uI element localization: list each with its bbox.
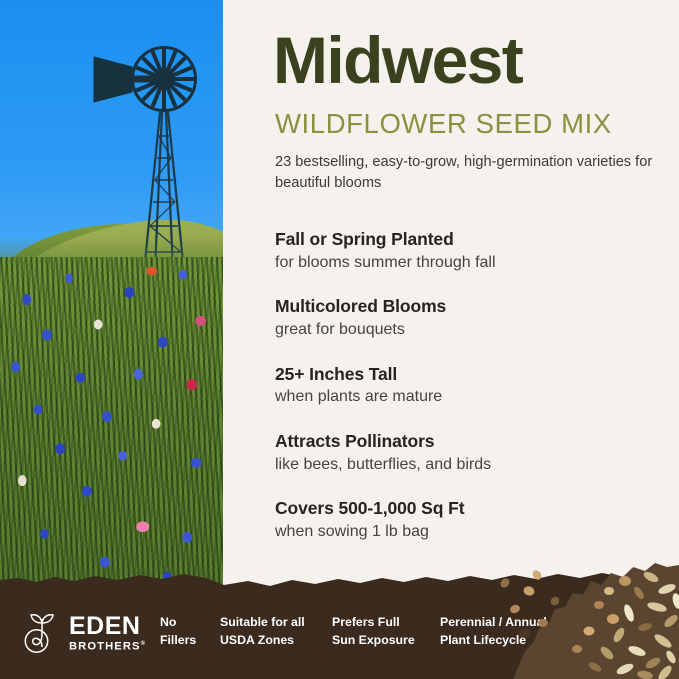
brand-logo[interactable]: EDEN BROTHERS® bbox=[22, 611, 146, 655]
footer-column-line1: Suitable for all bbox=[220, 614, 305, 632]
feature-title: 25+ Inches Tall bbox=[275, 363, 675, 386]
feature-item: Covers 500-1,000 Sq Ft when sowing 1 lb … bbox=[275, 497, 675, 542]
footer-column-line2: Plant Lifecycle bbox=[440, 632, 547, 650]
feature-subtitle: for blooms summer through fall bbox=[275, 252, 675, 274]
wildflower-field bbox=[0, 257, 223, 612]
feature-item: Multicolored Blooms great for bouquets bbox=[275, 295, 675, 340]
feature-title: Attracts Pollinators bbox=[275, 430, 675, 453]
feature-title: Covers 500-1,000 Sq Ft bbox=[275, 497, 675, 520]
feature-subtitle: great for bouquets bbox=[275, 319, 675, 341]
footer-column-line2: Sun Exposure bbox=[332, 632, 415, 650]
page-subtitle: WILDFLOWER SEED MIX bbox=[275, 110, 612, 138]
feature-subtitle: like bees, butterflies, and birds bbox=[275, 454, 675, 476]
brand-name-secondary: BROTHERS® bbox=[69, 641, 146, 653]
page-title: Midwest bbox=[273, 27, 522, 93]
feature-item: Attracts Pollinators like bees, butterfl… bbox=[275, 430, 675, 475]
footer-column-line1: No bbox=[160, 614, 196, 632]
feature-list: Fall or Spring Planted for blooms summer… bbox=[275, 228, 675, 565]
page-description: 23 bestselling, easy-to-grow, high-germi… bbox=[275, 152, 675, 193]
footer-column-line1: Prefers Full bbox=[332, 614, 415, 632]
footer-column-sun-exposure: Prefers Full Sun Exposure bbox=[332, 614, 415, 650]
sprout-seedling-icon bbox=[22, 611, 62, 655]
footer-column-line2: USDA Zones bbox=[220, 632, 305, 650]
footer-column-line1: Perennial / Annual bbox=[440, 614, 547, 632]
footer-column-usda-zones: Suitable for all USDA Zones bbox=[220, 614, 305, 650]
footer-bar: EDEN BROTHERS® No Fillers Suitable for a… bbox=[0, 587, 679, 679]
feature-subtitle: when sowing 1 lb bag bbox=[275, 521, 675, 543]
footer-column-line2: Fillers bbox=[160, 632, 196, 650]
footer-column-no-fillers: No Fillers bbox=[160, 614, 196, 650]
feature-item: 25+ Inches Tall when plants are mature bbox=[275, 363, 675, 408]
feature-item: Fall or Spring Planted for blooms summer… bbox=[275, 228, 675, 273]
feature-title: Multicolored Blooms bbox=[275, 295, 675, 318]
feature-title: Fall or Spring Planted bbox=[275, 228, 675, 251]
registered-trademark-icon: ® bbox=[141, 641, 147, 647]
footer-content: EDEN BROTHERS® No Fillers Suitable for a… bbox=[0, 587, 679, 679]
feature-subtitle: when plants are mature bbox=[275, 386, 675, 408]
footer-column-plant-lifecycle: Perennial / Annual Plant Lifecycle bbox=[440, 614, 547, 650]
brand-wordmark: EDEN BROTHERS® bbox=[69, 614, 146, 653]
windmill-wildflower-field-photo bbox=[0, 0, 223, 612]
brand-name-primary: EDEN bbox=[69, 614, 146, 639]
product-poster: Midwest WILDFLOWER SEED MIX 23 bestselli… bbox=[0, 0, 679, 679]
content-panel: Midwest WILDFLOWER SEED MIX 23 bestselli… bbox=[223, 0, 679, 612]
